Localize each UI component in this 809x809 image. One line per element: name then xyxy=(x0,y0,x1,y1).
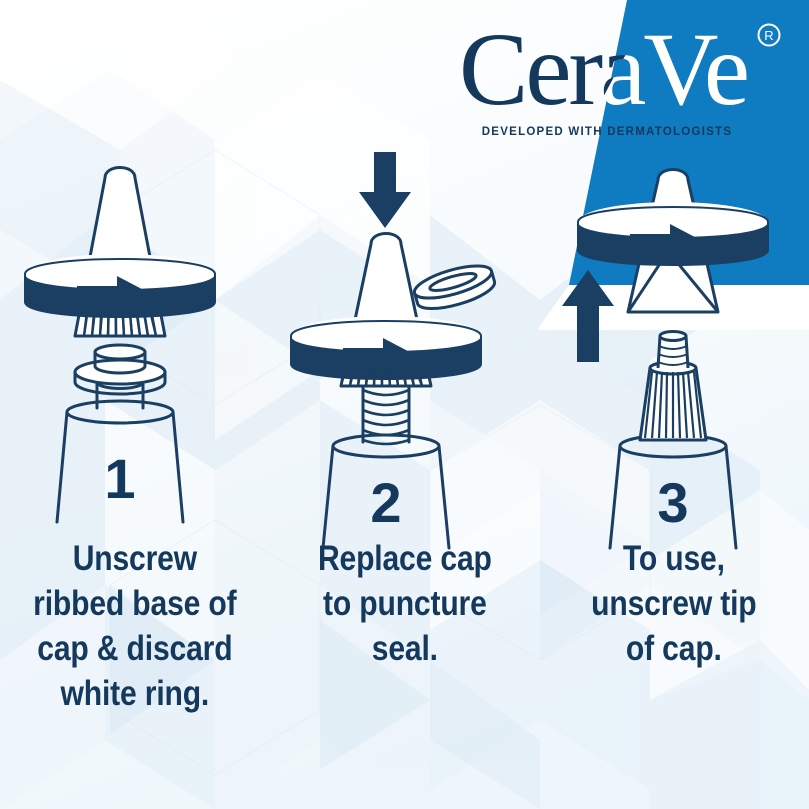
step-2-artwork: 2 xyxy=(270,150,540,550)
svg-text:R: R xyxy=(764,28,773,43)
bottle-mouth-rim xyxy=(67,401,173,423)
arrow-down-icon xyxy=(359,152,411,228)
logo-wordmark: CeraVe CeraVe R xyxy=(457,18,787,128)
bottle-right-wall xyxy=(173,412,183,522)
step-number-2: 2 xyxy=(370,471,401,534)
step-2-caption: Replace cap to puncture seal. xyxy=(289,536,521,671)
logo-tagline: DEVELOPED WITH DERMATOLOGISTS xyxy=(457,126,757,138)
step-2-diagram: 2 xyxy=(275,150,535,550)
discarded-ring xyxy=(411,259,498,315)
rotation-arrow-band xyxy=(291,316,481,380)
registered-trademark-icon: R xyxy=(759,25,780,46)
bottle-mouth-rim xyxy=(333,435,439,457)
bottle-left-wall xyxy=(610,446,620,548)
step-captions: Unscrew ribbed base of cap & discard whi… xyxy=(0,536,809,786)
step-1-artwork: 1 xyxy=(0,150,270,550)
step-3-diagram: 3 xyxy=(544,150,804,550)
step-1-caption: Unscrew ribbed base of cap & discard whi… xyxy=(19,536,251,717)
bottle-left-wall xyxy=(323,446,333,548)
bottle-right-wall xyxy=(439,446,449,548)
bottle-right-wall xyxy=(726,446,736,548)
step-3-artwork: 3 xyxy=(539,150,809,550)
cerave-logo: CeraVe CeraVe R DEVELOPED WITH DERMATOLO… xyxy=(457,18,787,136)
step-number-3: 3 xyxy=(658,471,689,534)
arrow-up-icon xyxy=(562,270,614,362)
bottle-left-wall xyxy=(57,412,67,522)
step-1-diagram: 1 xyxy=(5,150,265,550)
steps-illustrations: 1 xyxy=(0,150,809,570)
step-3: 3 xyxy=(539,150,809,570)
step-3-caption: To use, unscrew tip of cap. xyxy=(558,536,790,671)
step-number-1: 1 xyxy=(104,447,135,510)
step-1: 1 xyxy=(0,150,270,570)
instruction-graphic: CeraVe CeraVe R DEVELOPED WITH DERMATOLO… xyxy=(0,0,809,809)
rotation-arrow-band xyxy=(23,254,217,318)
step-2: 2 xyxy=(270,150,540,570)
